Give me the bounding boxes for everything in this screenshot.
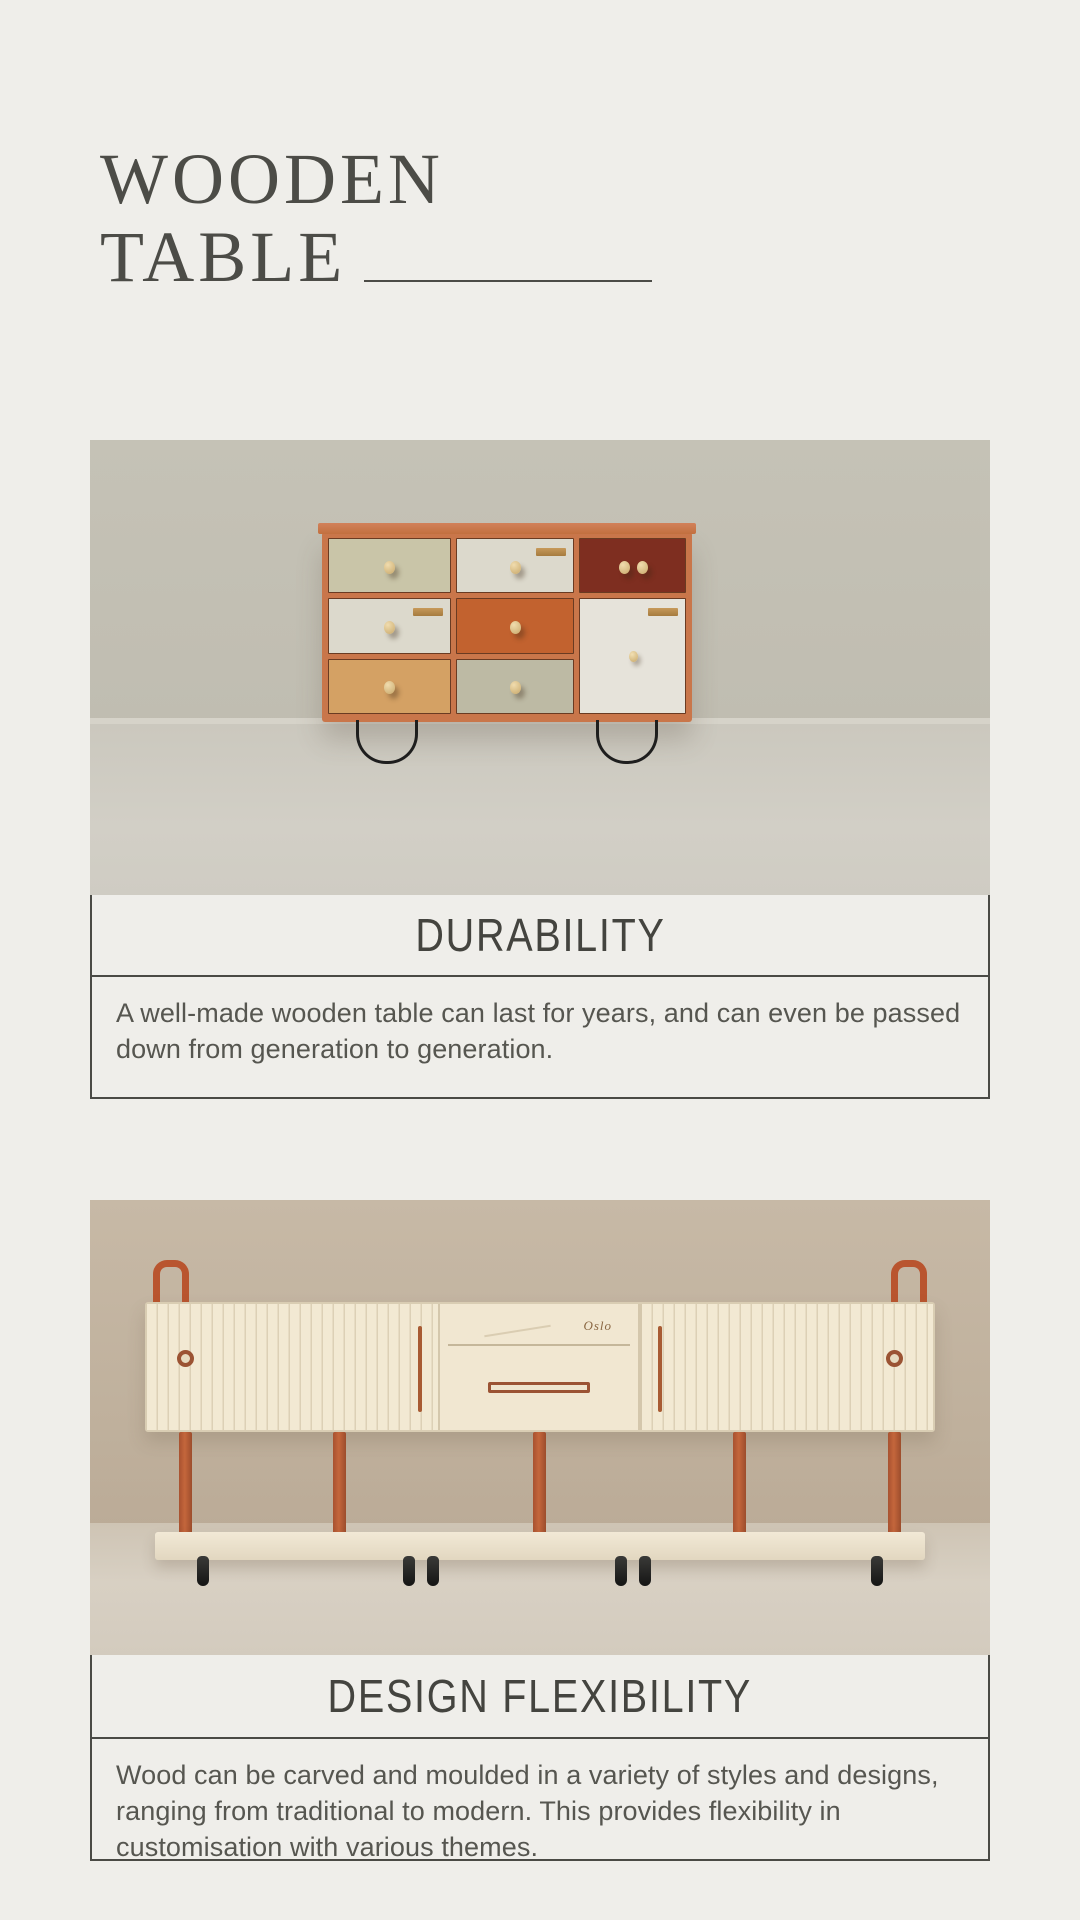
- sideboard-lower-shelf: [155, 1532, 925, 1560]
- cabinet-door-right: [579, 598, 686, 714]
- page-title-line-2: TABLE: [100, 218, 346, 296]
- drawer-knob-icon: [384, 681, 395, 694]
- drawer-4: [328, 598, 451, 653]
- drawer-knob-icon: [637, 561, 648, 574]
- feature-card-durability: DURABILITY A well-made wooden table can …: [90, 440, 990, 1099]
- sideboard-leg-5: [888, 1432, 901, 1540]
- page-header: WOODEN TABLE: [100, 140, 720, 296]
- caster-wheel-1: [197, 1556, 209, 1586]
- card-body-box-durability: A well-made wooden table can last for ye…: [90, 977, 990, 1099]
- card-body-flexibility: Wood can be carved and moulded in a vari…: [116, 1757, 964, 1865]
- caster-wheel-5: [639, 1556, 651, 1586]
- sideboard-door-left: [147, 1304, 440, 1430]
- sideboard-leg-1: [179, 1432, 192, 1540]
- drawer-knob-icon: [384, 561, 395, 574]
- drawer-label-plate-icon: [413, 608, 443, 616]
- card-heading-flexibility: DESIGN FLEXIBILITY: [328, 1669, 752, 1723]
- card-heading-box-flexibility: DESIGN FLEXIBILITY: [90, 1655, 990, 1739]
- page-title-line-1: WOODEN: [100, 140, 720, 218]
- drawer-knob-icon: [510, 561, 521, 574]
- drawer-knob-icon: [510, 621, 521, 634]
- drawer-highlight: [484, 1325, 551, 1338]
- cabinet-top-surface: [318, 523, 696, 534]
- drawer-2: [456, 538, 574, 593]
- drawer-pull-bar-icon: [488, 1382, 591, 1393]
- sideboard-leg-3: [533, 1432, 546, 1540]
- drawer-1: [328, 538, 451, 593]
- drawer-7: [456, 659, 574, 714]
- caster-wheel-4: [615, 1556, 627, 1586]
- sideboard-cabinet: Oslo: [145, 1302, 935, 1432]
- door-label-plate-icon: [648, 608, 678, 616]
- multicolour-drawer-cabinet-photo: [90, 440, 990, 895]
- sideboard-leg-4: [733, 1432, 746, 1540]
- cabinet-drawer-grid: [328, 538, 686, 714]
- card-body-durability: A well-made wooden table can last for ye…: [116, 995, 964, 1067]
- title-underline-rule: [364, 280, 652, 282]
- door-knob-icon: [177, 1350, 194, 1367]
- card-body-box-flexibility: Wood can be carved and moulded in a vari…: [90, 1739, 990, 1861]
- drawer-knob-icon: [619, 561, 630, 574]
- drawer-3: [579, 538, 686, 593]
- caster-wheel-3: [427, 1556, 439, 1586]
- sideboard-handle-right: [891, 1260, 927, 1306]
- sideboard-door-right: [640, 1304, 933, 1430]
- caster-wheel-2: [403, 1556, 415, 1586]
- brand-script-mark: Oslo: [583, 1318, 612, 1334]
- door-pull-bar-icon: [418, 1326, 422, 1412]
- cabinet-body: [322, 532, 692, 722]
- door-pull-bar-icon: [658, 1326, 662, 1412]
- drawer-divider-line: [448, 1344, 630, 1346]
- sideboard-leg-2: [333, 1432, 346, 1540]
- door-knob-icon: [629, 651, 638, 662]
- card-heading-durability: DURABILITY: [415, 908, 665, 962]
- photo-floor: [90, 724, 990, 895]
- caster-wheel-6: [871, 1556, 883, 1586]
- sideboard-body: Oslo: [145, 1260, 935, 1580]
- card-heading-box-durability: DURABILITY: [90, 895, 990, 977]
- feature-card-flexibility: Oslo DESIGN FLEXIBI: [90, 1200, 990, 1861]
- drawer-6: [328, 659, 451, 714]
- drawer-5: [456, 598, 574, 653]
- sideboard-handle-left: [153, 1260, 189, 1306]
- drawer-knob-icon: [510, 681, 521, 694]
- drawer-label-plate-icon: [536, 548, 566, 556]
- sideboard-drawer-stack: Oslo: [440, 1304, 640, 1430]
- drawer-knob-icon: [384, 621, 395, 634]
- fluted-sideboard-on-casters-photo: Oslo: [90, 1200, 990, 1655]
- door-knob-icon: [886, 1350, 903, 1367]
- page-title-row-2: TABLE: [100, 218, 720, 296]
